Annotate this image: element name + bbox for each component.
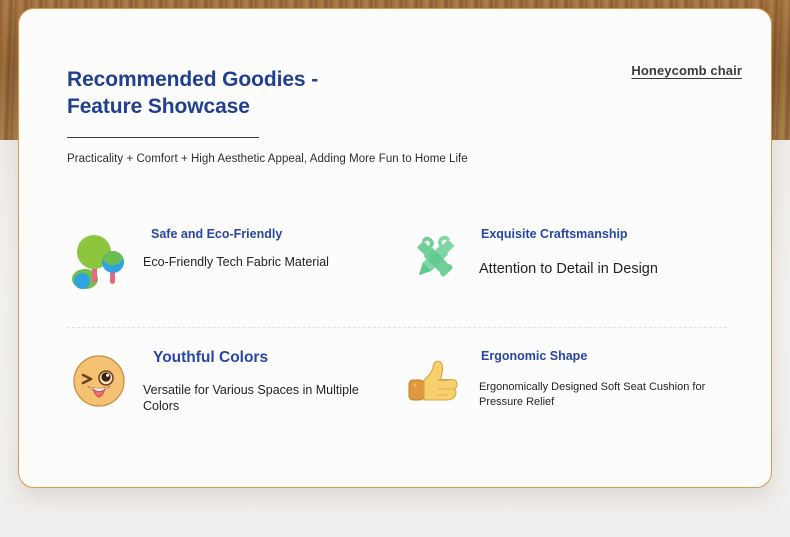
- feature-description: Eco-Friendly Tech Fabric Material: [143, 254, 393, 271]
- feature-description: Attention to Detail in Design: [479, 260, 729, 280]
- feature-description: Versatile for Various Spaces in Multiple…: [143, 382, 393, 416]
- feature-title: Exquisite Craftsmanship: [481, 227, 729, 242]
- product-name-link[interactable]: Honeycomb chair: [631, 63, 742, 78]
- feature-text: Youthful Colors Versatile for Various Sp…: [143, 343, 393, 415]
- feature-grid: Safe and Eco-Friendly Eco-Friendly Tech …: [67, 209, 739, 429]
- heading-block: Recommended Goodies - Feature Showcase P…: [67, 67, 507, 165]
- crossed-tools-icon: [403, 227, 467, 291]
- feature-title: Youthful Colors: [153, 349, 393, 368]
- feature-item-safe-eco-friendly: Safe and Eco-Friendly Eco-Friendly Tech …: [67, 209, 403, 317]
- feature-item-ergonomic-shape: Ergonomic Shape Ergonomically Designed S…: [403, 317, 739, 429]
- feature-showcase-card: Honeycomb chair Recommended Goodies - Fe…: [18, 8, 772, 488]
- feature-text: Exquisite Craftsmanship Attention to Det…: [479, 221, 729, 280]
- title-underline-rule: [67, 137, 259, 138]
- thumbs-up-icon: [403, 349, 467, 413]
- feature-description: Ergonomically Designed Soft Seat Cushion…: [479, 380, 729, 410]
- winking-face-tongue-icon: [67, 349, 131, 413]
- page-subtitle: Practicality + Comfort + High Aesthetic …: [67, 153, 507, 165]
- feature-text: Safe and Eco-Friendly Eco-Friendly Tech …: [143, 221, 393, 271]
- feature-item-youthful-colors: Youthful Colors Versatile for Various Sp…: [67, 317, 403, 429]
- feature-title: Ergonomic Shape: [481, 349, 729, 364]
- feature-item-exquisite-craftsmanship: Exquisite Craftsmanship Attention to Det…: [403, 209, 739, 317]
- feature-text: Ergonomic Shape Ergonomically Designed S…: [479, 343, 729, 410]
- park-trees-icon: [67, 227, 131, 291]
- feature-title: Safe and Eco-Friendly: [151, 227, 393, 242]
- page-title: Recommended Goodies - Feature Showcase: [67, 67, 507, 121]
